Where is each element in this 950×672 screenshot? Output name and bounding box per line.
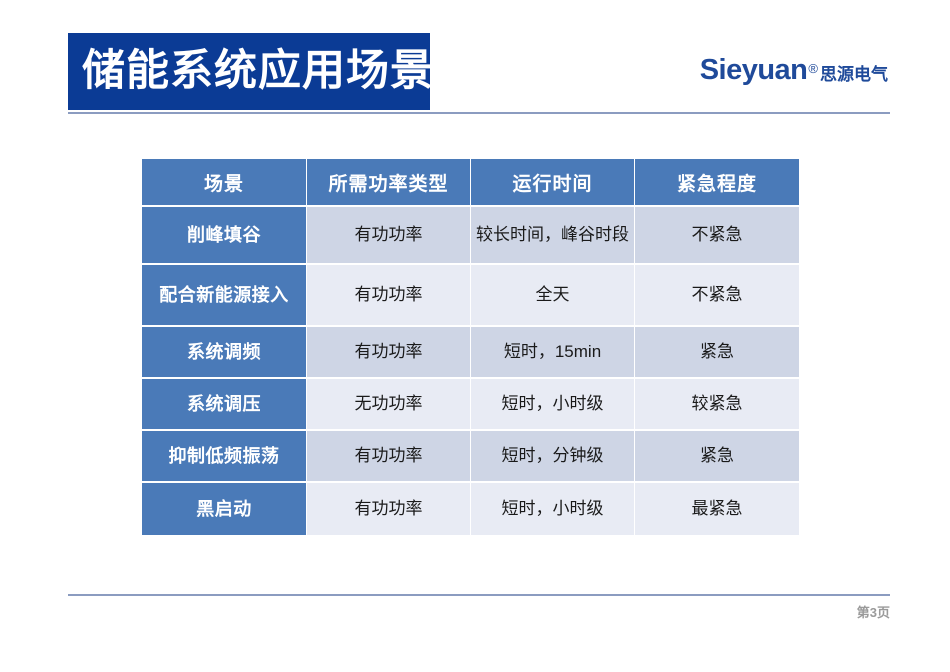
cell-power-type: 无功功率 bbox=[307, 379, 470, 429]
logo-chinese-text: 思源电气 bbox=[820, 66, 888, 83]
cell-urgency: 较紧急 bbox=[635, 379, 799, 429]
cell-scenario: 黑启动 bbox=[142, 483, 306, 535]
table-header-row: 场景 所需功率类型 运行时间 紧急程度 bbox=[142, 159, 799, 205]
cell-power-type: 有功功率 bbox=[307, 327, 470, 377]
cell-power-type: 有功功率 bbox=[307, 265, 470, 325]
header-divider bbox=[68, 112, 890, 114]
cell-scenario: 抑制低频振荡 bbox=[142, 431, 306, 481]
table-row: 配合新能源接入 有功功率 全天 不紧急 bbox=[142, 265, 799, 325]
cell-power-type: 有功功率 bbox=[307, 207, 470, 263]
cell-urgency: 最紧急 bbox=[635, 483, 799, 535]
cell-power-type: 有功功率 bbox=[307, 431, 470, 481]
title-banner: 储能系统应用场景 bbox=[68, 33, 430, 110]
cell-urgency: 不紧急 bbox=[635, 207, 799, 263]
scenario-table-container: 场景 所需功率类型 运行时间 紧急程度 削峰填谷 有功功率 较长时间，峰谷时段 … bbox=[141, 157, 795, 537]
table-row: 抑制低频振荡 有功功率 短时，分钟级 紧急 bbox=[142, 431, 799, 481]
page-title: 储能系统应用场景 bbox=[82, 50, 434, 93]
sieyuan-logo: Sieyuan ® 思源电气 bbox=[700, 56, 888, 85]
cell-scenario: 削峰填谷 bbox=[142, 207, 306, 263]
cell-scenario: 系统调频 bbox=[142, 327, 306, 377]
table-row: 系统调压 无功功率 短时，小时级 较紧急 bbox=[142, 379, 799, 429]
cell-urgency: 不紧急 bbox=[635, 265, 799, 325]
cell-scenario: 系统调压 bbox=[142, 379, 306, 429]
cell-duration: 短时，15min bbox=[471, 327, 634, 377]
column-header-scenario: 场景 bbox=[142, 159, 306, 205]
cell-duration: 全天 bbox=[471, 265, 634, 325]
table-row: 系统调频 有功功率 短时，15min 紧急 bbox=[142, 327, 799, 377]
cell-urgency: 紧急 bbox=[635, 431, 799, 481]
column-header-urgency: 紧急程度 bbox=[635, 159, 799, 205]
cell-duration: 短时，小时级 bbox=[471, 379, 634, 429]
cell-duration: 短时，小时级 bbox=[471, 483, 634, 535]
cell-duration: 较长时间，峰谷时段 bbox=[471, 207, 634, 263]
page-number: 第3页 bbox=[857, 602, 890, 621]
column-header-duration: 运行时间 bbox=[471, 159, 634, 205]
cell-scenario: 配合新能源接入 bbox=[142, 265, 306, 325]
cell-urgency: 紧急 bbox=[635, 327, 799, 377]
table-row: 削峰填谷 有功功率 较长时间，峰谷时段 不紧急 bbox=[142, 207, 799, 263]
cell-power-type: 有功功率 bbox=[307, 483, 470, 535]
column-header-power-type: 所需功率类型 bbox=[307, 159, 470, 205]
scenario-table: 场景 所需功率类型 运行时间 紧急程度 削峰填谷 有功功率 较长时间，峰谷时段 … bbox=[141, 157, 800, 537]
registered-trademark-icon: ® bbox=[808, 62, 818, 75]
cell-duration: 短时，分钟级 bbox=[471, 431, 634, 481]
table-row: 黑启动 有功功率 短时，小时级 最紧急 bbox=[142, 483, 799, 535]
logo-latin-text: Sieyuan bbox=[700, 56, 808, 85]
footer-divider bbox=[68, 594, 890, 596]
slide-header: 储能系统应用场景 Sieyuan ® 思源电气 bbox=[0, 0, 950, 122]
